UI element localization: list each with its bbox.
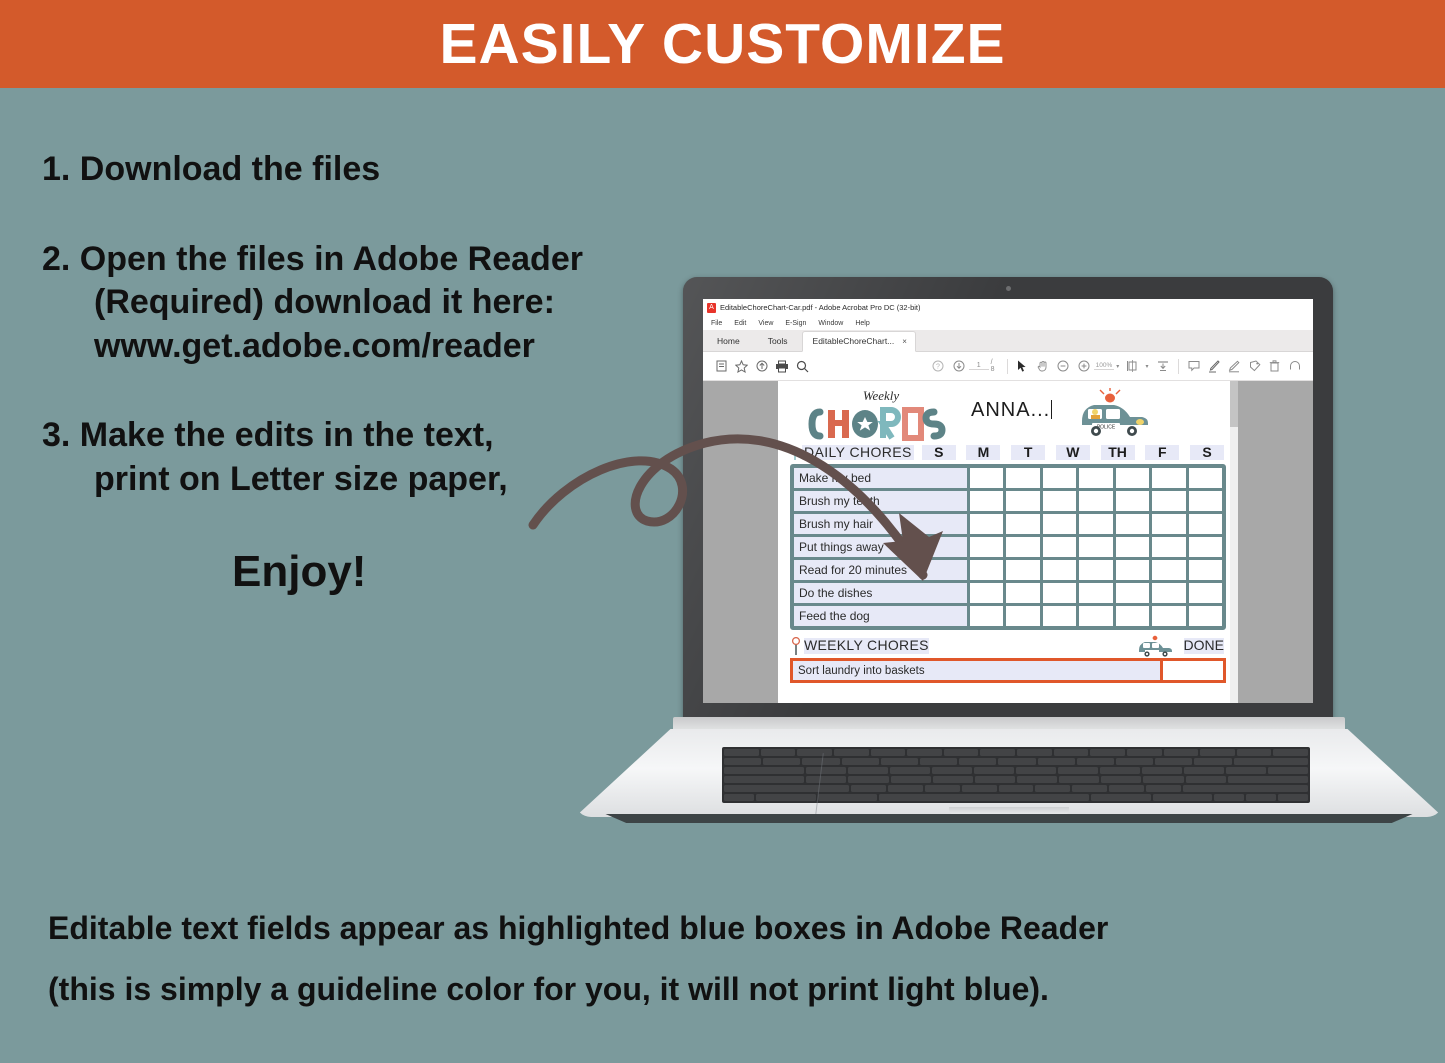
webcam-icon (1006, 286, 1011, 291)
checkbox-cell[interactable] (1079, 560, 1112, 580)
laptop-body (575, 729, 1443, 817)
day-header-tue: T (1011, 445, 1045, 460)
window-title: EditableChoreChart-Car.pdf - Adobe Acrob… (720, 303, 921, 312)
highlight-pen-icon[interactable] (1204, 355, 1224, 377)
checkbox-cell[interactable] (970, 606, 1003, 626)
keyboard-row (724, 767, 1308, 774)
svg-text:?: ? (936, 364, 940, 371)
laptop-base (575, 717, 1443, 829)
checkbox-cell[interactable] (1189, 537, 1222, 557)
checkbox-cell[interactable] (1189, 606, 1222, 626)
help-circle-icon[interactable]: ? (928, 355, 948, 377)
checkbox-cell[interactable] (970, 491, 1003, 511)
toolbar-divider (1007, 359, 1008, 374)
checkbox-cell[interactable] (1189, 560, 1222, 580)
checkbox-cell[interactable] (1152, 514, 1185, 534)
checkbox-cell[interactable] (1079, 583, 1112, 603)
draw-icon[interactable] (1224, 355, 1244, 377)
name-field[interactable]: ANNA... (971, 399, 1052, 422)
annotation-arrow-icon (525, 425, 975, 625)
checkbox-cell[interactable] (1006, 560, 1039, 580)
tab-document[interactable]: EditableChoreChart... × (802, 331, 916, 352)
police-car-small-icon (1136, 634, 1176, 658)
police-car-icon: POLICE (1074, 387, 1152, 437)
done-header: DONE (1184, 638, 1224, 653)
day-header-fri: F (1145, 445, 1179, 460)
footer-note: Editable text fields appear as highlight… (48, 898, 1408, 1020)
weekly-chore-label[interactable]: Sort laundry into baskets (793, 661, 1160, 680)
close-icon[interactable]: × (902, 337, 907, 346)
checkbox-cell[interactable] (1043, 560, 1076, 580)
checkbox-cell[interactable] (1189, 514, 1222, 534)
checkbox-cell[interactable] (1152, 560, 1185, 580)
chevron-down-icon-2[interactable]: ▾ (1146, 363, 1149, 370)
keyboard-row (724, 794, 1308, 801)
checkbox-cell[interactable] (1006, 491, 1039, 511)
search-icon[interactable] (792, 355, 812, 377)
checkbox-cell[interactable] (1116, 560, 1149, 580)
stamp-icon[interactable] (1244, 355, 1264, 377)
zoom-level-input[interactable]: 100% (1094, 362, 1115, 370)
header-banner: EASILY CUSTOMIZE (0, 0, 1445, 88)
day-header-sat: S (1190, 445, 1224, 460)
checkbox-cell[interactable] (1116, 514, 1149, 534)
checkbox-cell[interactable] (1079, 514, 1112, 534)
weekly-chores-header-row: WEEKLY CHORES DONE (790, 637, 1226, 655)
zoom-out-icon[interactable] (1053, 355, 1073, 377)
checkbox-cell[interactable] (1152, 491, 1185, 511)
checkbox-cell[interactable] (1079, 491, 1112, 511)
checkbox-cell[interactable] (1043, 606, 1076, 626)
menu-bar[interactable]: File Edit View E-Sign Window Help (703, 316, 1313, 330)
menu-item-help[interactable]: Help (855, 320, 869, 327)
checkbox-cell[interactable] (1152, 468, 1185, 488)
checkbox-cell[interactable] (970, 560, 1003, 580)
tab-document-label: EditableChoreChart... (813, 336, 895, 346)
laptop-base-shadow (593, 814, 1425, 823)
checkbox-cell[interactable] (1189, 583, 1222, 603)
checkbox-cell[interactable] (970, 537, 1003, 557)
checkbox-cell[interactable] (1116, 491, 1149, 511)
tab-tools[interactable]: Tools (754, 332, 802, 351)
menu-item-edit[interactable]: Edit (734, 320, 746, 327)
checkbox-cell[interactable] (1043, 491, 1076, 511)
checkbox-cell[interactable] (1006, 606, 1039, 626)
page-total-label: / 8 (991, 359, 998, 373)
checkbox-cell[interactable] (1006, 583, 1039, 603)
tab-home[interactable]: Home (703, 332, 754, 351)
checkbox-cell[interactable] (1152, 537, 1185, 557)
text-cursor (1051, 400, 1052, 419)
checkbox-cell[interactable] (1116, 583, 1149, 603)
keyboard-row (724, 785, 1308, 792)
page-thumbnails-icon[interactable] (711, 355, 731, 377)
download-circle-icon[interactable] (948, 355, 968, 377)
toolbar-divider-2 (1178, 359, 1179, 374)
menu-item-esign[interactable]: E-Sign (785, 320, 806, 327)
print-icon[interactable] (772, 355, 792, 377)
checkbox-cell[interactable] (970, 468, 1003, 488)
checkbox-cell[interactable] (1079, 537, 1112, 557)
select-cursor-icon[interactable] (1013, 355, 1033, 377)
menu-item-file[interactable]: File (711, 320, 722, 327)
checkbox-cell[interactable] (1189, 491, 1222, 511)
logo-script-text: Weekly (863, 388, 900, 403)
footer-note-line-2: (this is simply a guideline color for yo… (48, 959, 1408, 1020)
fit-page-icon[interactable] (1123, 355, 1143, 377)
weekly-chore-done-cell[interactable] (1163, 661, 1223, 680)
menu-item-view[interactable]: View (758, 320, 773, 327)
checkbox-cell[interactable] (1043, 468, 1076, 488)
page-title: EASILY CUSTOMIZE (439, 16, 1005, 73)
keyboard-row (724, 776, 1308, 783)
tab-strip: Home Tools EditableChoreChart... × (703, 330, 1313, 352)
checkbox-cell[interactable] (1006, 468, 1039, 488)
weekly-chores-header: WEEKLY CHORES (804, 638, 929, 653)
comment-icon[interactable] (1184, 355, 1204, 377)
day-header-thu: TH (1101, 445, 1135, 460)
keyboard-row (724, 749, 1308, 756)
checkbox-cell[interactable] (1152, 583, 1185, 603)
menu-item-window[interactable]: Window (818, 320, 843, 327)
keyboard-row (724, 758, 1308, 765)
cloud-upload-icon[interactable] (751, 355, 771, 377)
chevron-down-icon[interactable]: ▾ (1116, 363, 1119, 370)
stop-sign-icon (790, 637, 802, 655)
hand-icon[interactable] (1033, 355, 1053, 377)
checkbox-cell[interactable] (970, 514, 1003, 534)
scrollbar-thumb[interactable] (1230, 381, 1238, 427)
day-header-wed: W (1056, 445, 1090, 460)
checkbox-cell[interactable] (1152, 606, 1185, 626)
checkbox-cell[interactable] (1006, 514, 1039, 534)
star-icon[interactable] (731, 355, 751, 377)
acrobat-logo-icon: A (707, 303, 716, 313)
step-2-line-1: 2. Open the files in Adobe Reader (42, 238, 722, 282)
checkbox-cell[interactable] (1043, 537, 1076, 557)
page-number-input[interactable]: 1 (969, 362, 989, 370)
checkbox-cell[interactable] (1116, 537, 1149, 557)
laptop-hinge (673, 717, 1345, 731)
scroll-mode-icon[interactable] (1153, 355, 1173, 377)
vertical-scrollbar[interactable] (1230, 381, 1238, 703)
acrobat-toolbar: ? 1 / 8 100% (703, 352, 1313, 381)
checkbox-cell[interactable] (1189, 468, 1222, 488)
zoom-in-icon[interactable] (1073, 355, 1093, 377)
checkbox-cell[interactable] (1043, 514, 1076, 534)
weekly-chore-row: Sort laundry into baskets (790, 658, 1226, 683)
instruction-step-1: 1. Download the files (42, 148, 722, 192)
step-1-line-1: 1. Download the files (42, 148, 722, 192)
footer-note-line-1: Editable text fields appear as highlight… (48, 898, 1408, 959)
keyboard (722, 747, 1310, 803)
checkbox-cell[interactable] (1006, 537, 1039, 557)
checkbox-cell[interactable] (1116, 468, 1149, 488)
checkbox-cell[interactable] (970, 583, 1003, 603)
read-aloud-icon[interactable] (1285, 355, 1305, 377)
checkbox-cell[interactable] (1043, 583, 1076, 603)
checkbox-cell[interactable] (1079, 468, 1112, 488)
acrobat-title-bar: A EditableChoreChart-Car.pdf - Adobe Acr… (703, 299, 1313, 316)
checkbox-cell[interactable] (1116, 606, 1149, 626)
delete-icon[interactable] (1265, 355, 1285, 377)
checkbox-cell[interactable] (1079, 606, 1112, 626)
